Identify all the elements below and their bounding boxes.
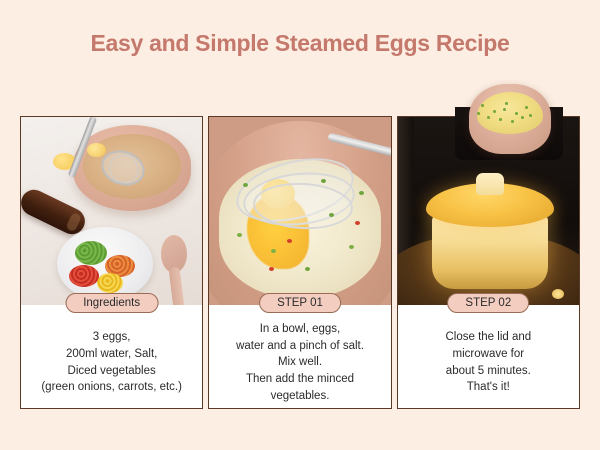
spatula-handle-shape [168,266,184,305]
green-onion-garnish-shape [505,102,508,105]
recipe-card-ingredients: Ingredients 3 eggs, 200ml water, Salt, D… [20,116,203,409]
green-onion-garnish-shape [529,114,532,117]
diced-green-onion-shape [75,241,107,265]
green-onion-garnish-shape [487,116,490,119]
card-text-ingredients: 3 eggs, 200ml water, Salt, Diced vegetab… [41,329,182,396]
card-badge-step-02: STEP 02 [447,293,529,313]
green-onion-garnish-shape [481,104,484,107]
card-badge-ingredients: Ingredients [65,293,158,313]
finished-dish-inset-photo [455,72,563,160]
green-onion-garnish-shape [503,108,506,111]
card-photo-ingredients [21,117,202,305]
diced-corn-shape [97,273,123,293]
card-body-step-01: In a bowl, eggs, water and a pinch of sa… [209,305,390,408]
serving-bowl-shape [469,84,551,154]
card-photo-step-01 [209,117,390,305]
green-onion-garnish-shape [521,116,524,119]
photo-illustration-step-01 [209,117,390,305]
green-onion-garnish-shape [499,118,502,121]
lid-knob-shape [476,173,504,195]
page-title: Easy and Simple Steamed Eggs Recipe [0,30,600,57]
green-onion-garnish-shape [477,112,480,115]
steamed-egg-surface-shape [477,92,543,134]
photo-illustration-finished-dish [455,72,563,160]
pepper-grinder-shape [21,185,89,238]
light-reflection-shape [552,289,564,299]
egg-yolk-shape [87,143,106,157]
card-text-step-01: In a bowl, eggs, water and a pinch of sa… [236,321,364,404]
diced-red-pepper-shape [69,265,99,287]
photo-illustration-ingredients [21,117,202,305]
card-body-ingredients: 3 eggs, 200ml water, Salt, Diced vegetab… [21,305,202,408]
recipe-card-step-01: STEP 01 In a bowl, eggs, water and a pin… [208,116,391,409]
card-badge-step-01: STEP 01 [259,293,341,313]
card-body-step-02: Close the lid and microwave for about 5 … [398,305,579,408]
green-onion-garnish-shape [515,112,518,115]
green-onion-garnish-shape [511,120,514,123]
card-text-step-02: Close the lid and microwave for about 5 … [445,329,531,396]
green-onion-garnish-shape [493,110,496,113]
green-onion-garnish-shape [525,106,528,109]
